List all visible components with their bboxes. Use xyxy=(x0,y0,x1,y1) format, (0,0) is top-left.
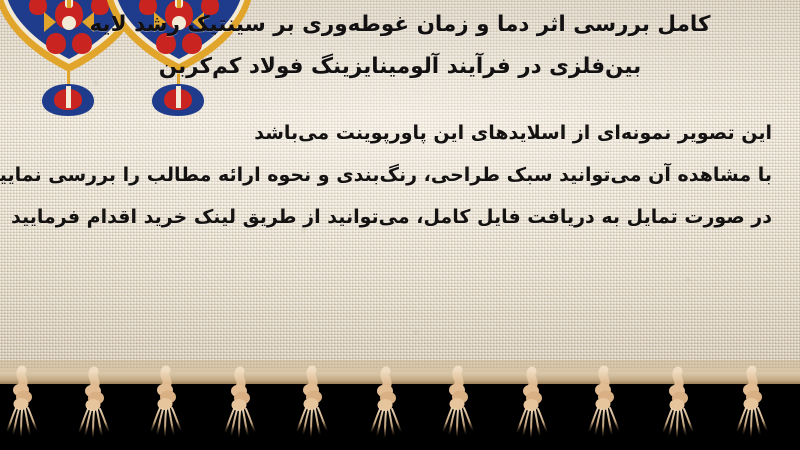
title-line-2: بین‌فلزی در فرآیند آلومینایزینگ فولاد کم… xyxy=(22,46,778,88)
title-line-1: کامل بررسی اثر دما و زمان غوطه‌وری بر سی… xyxy=(22,4,778,46)
body-line-2: با مشاهده آن می‌توانید سبک طراحی، رنگ‌بن… xyxy=(28,154,772,196)
slide-body: این تصویر نمونه‌ای از اسلایدهای این پاور… xyxy=(28,112,772,238)
carpet-fringe xyxy=(0,360,800,450)
body-line-1: این تصویر نمونه‌ای از اسلایدهای این پاور… xyxy=(28,112,772,154)
slide-canvas: کامل بررسی اثر دما و زمان غوطه‌وری بر سی… xyxy=(0,0,800,450)
slide-title: کامل بررسی اثر دما و زمان غوطه‌وری بر سی… xyxy=(0,4,800,88)
body-line-3: در صورت تمایل به دریافت فایل کامل، می‌تو… xyxy=(28,196,772,238)
